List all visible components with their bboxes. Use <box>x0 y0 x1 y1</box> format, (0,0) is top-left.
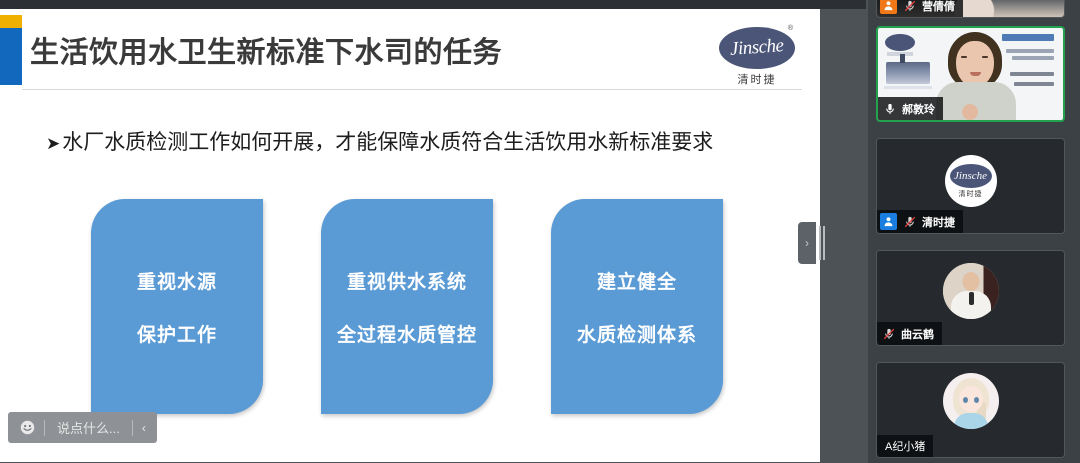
accent-bar-blue <box>0 28 22 85</box>
content-box-2-line2: 全过程水质管控 <box>337 320 477 347</box>
chat-input-field[interactable]: 说点什么... <box>45 418 132 437</box>
content-box-1[interactable]: 重视水源 保护工作 <box>91 199 263 414</box>
participant-name: 清时捷 <box>922 214 955 230</box>
top-dark-strip <box>0 0 866 9</box>
content-box-2-line1: 重视供水系统 <box>347 267 467 294</box>
sidebar-collapse-button[interactable]: › <box>798 222 816 264</box>
drag-rail-line-2 <box>823 226 825 260</box>
content-box-3-line2: 水质检测体系 <box>577 320 697 347</box>
participant-name: 郝敦玲 <box>902 101 935 117</box>
chat-input-bar[interactable]: 说点什么... ‹ <box>8 412 157 443</box>
presentation-slide[interactable]: 生活饮用水卫生新标准下水司的任务 Jinsche ® 清时捷 ➤水厂水质检测工作… <box>0 9 820 462</box>
avatar: Jinsche 清时捷 <box>945 155 997 207</box>
participant-tile[interactable]: Jinsche 清时捷 <box>876 138 1065 234</box>
drag-rail-line-1 <box>819 226 821 260</box>
speaker-eye-left <box>961 56 967 58</box>
instrument-caption <box>884 86 932 89</box>
slide-subtitle: ➤水厂水质检测工作如何开展，才能保障水质符合生活饮用水新标准要求 <box>46 126 713 156</box>
participant-name: A纪小猪 <box>880 438 925 454</box>
title-accent-bar <box>0 15 22 85</box>
avatar-anime-eye-left <box>963 397 968 403</box>
participant-name-chip: 郝敦玲 <box>878 97 943 120</box>
participant-video-sidebar: 营倩倩 <box>868 0 1080 463</box>
panel-drag-handle[interactable] <box>819 226 825 260</box>
avatar <box>943 263 999 319</box>
participant-tile[interactable]: A纪小猪 <box>876 362 1065 458</box>
participant-name: 营倩倩 <box>922 0 955 14</box>
participant-name-chip: 曲云鹤 <box>877 322 942 345</box>
participant-tile[interactable]: 营倩倩 <box>876 0 1065 18</box>
content-box-3[interactable]: 建立健全 水质检测体系 <box>551 199 723 414</box>
content-box-1-line1: 重视水源 <box>137 267 217 294</box>
participant-name-chip: 营倩倩 <box>877 0 963 17</box>
speaker-webcam-overlay <box>936 28 1016 120</box>
chat-collapse-icon[interactable]: ‹ <box>133 412 155 443</box>
page-title: 生活饮用水卫生新标准下水司的任务 <box>30 29 502 71</box>
speaker-face <box>956 41 994 87</box>
avatar <box>943 373 999 429</box>
bullet-arrow-icon: ➤ <box>46 134 60 153</box>
shared-slide-text-4 <box>1014 82 1054 86</box>
subtitle-text: 水厂水质检测工作如何开展，才能保障水质符合生活饮用水新标准要求 <box>62 131 713 154</box>
avatar-anime-eye-right <box>974 397 979 403</box>
logo-wordmark: Jinsche <box>730 35 785 61</box>
company-logo: Jinsche ® 清时捷 <box>712 27 802 89</box>
person-avatar-icon <box>880 0 897 14</box>
content-box-3-line1: 建立健全 <box>597 267 677 294</box>
avatar-logo-caption: 清时捷 <box>959 189 983 199</box>
speaker-eye-right <box>982 56 988 58</box>
avatar-photo-microphone <box>969 292 974 305</box>
shared-slide-logo-icon <box>885 34 915 51</box>
mic-muted-icon <box>901 0 918 14</box>
avatar-logo-icon: Jinsche <box>950 164 992 188</box>
logo-ellipse-icon: Jinsche ® <box>719 27 795 69</box>
header-divider <box>22 89 802 90</box>
slide-header: 生活饮用水卫生新标准下水司的任务 Jinsche ® 清时捷 <box>0 9 820 93</box>
participant-name-chip: 清时捷 <box>877 210 963 233</box>
shared-slide-text-2 <box>1012 56 1054 60</box>
speaker-hand <box>962 104 978 120</box>
participant-tile[interactable]: 曲云鹤 <box>876 250 1065 346</box>
content-box-1-line2: 保护工作 <box>137 320 217 347</box>
avatar-anime-dress <box>954 413 988 429</box>
meeting-screen-share-window: 生活饮用水卫生新标准下水司的任务 Jinsche ® 清时捷 ➤水厂水质检测工作… <box>0 0 1080 463</box>
registered-trademark-icon: ® <box>788 25 793 32</box>
mic-muted-icon <box>901 213 918 230</box>
accent-bar-gold <box>0 15 22 28</box>
participant-tile-active-speaker[interactable]: 郝敦玲 <box>876 26 1065 122</box>
person-avatar-icon <box>880 213 897 230</box>
smiley-icon[interactable] <box>10 412 44 443</box>
chevron-right-icon: › <box>805 236 809 250</box>
logo-chinese-name: 清时捷 <box>738 71 777 87</box>
mic-muted-icon <box>880 325 897 342</box>
mic-on-icon <box>881 100 898 117</box>
participant-name: 曲云鹤 <box>901 326 934 342</box>
participant-name-chip: A纪小猪 <box>877 435 933 457</box>
instrument-illustration <box>886 62 930 84</box>
avatar-photo-head <box>962 272 979 291</box>
content-box-2[interactable]: 重视供水系统 全过程水质管控 <box>321 199 493 414</box>
shared-slide-text-3 <box>1010 72 1054 76</box>
